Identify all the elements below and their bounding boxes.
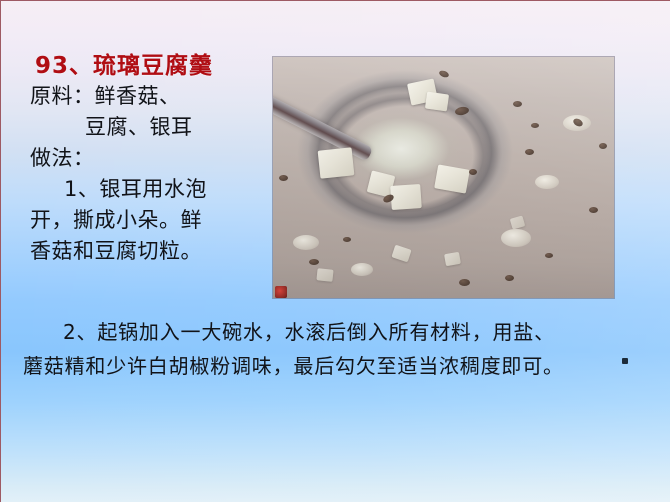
tofu-cube	[316, 268, 333, 282]
mushroom-speck	[545, 253, 553, 258]
mushroom-speck	[279, 175, 288, 181]
mushroom-speck	[343, 237, 351, 242]
method-step1-line-1: 1、银耳用水泡	[1, 174, 263, 205]
recipe-text-column: 93、琉璃豆腐羹 原料：鲜香菇、 豆腐、银耳 做法： 1、银耳用水泡 开，撕成小…	[1, 51, 263, 267]
broth-chunk	[293, 235, 319, 250]
tofu-cube	[390, 184, 422, 210]
slide-canvas: 93、琉璃豆腐羹 原料：鲜香菇、 豆腐、银耳 做法： 1、银耳用水泡 开，撕成小…	[0, 0, 670, 502]
mushroom-speck	[531, 123, 539, 128]
recipe-title: 93、琉璃豆腐羹	[1, 51, 263, 81]
ingredients-line-2: 豆腐、银耳	[1, 112, 263, 143]
mushroom-speck	[525, 149, 534, 155]
mushroom-speck	[599, 143, 607, 149]
tofu-cube	[510, 215, 526, 229]
mushroom-speck	[454, 106, 469, 116]
tofu-cube	[318, 147, 355, 178]
mushroom-speck	[513, 101, 522, 107]
broth-chunk	[351, 263, 373, 276]
method-step2-line-2: 蘑菇精和少许白胡椒粉调味，最后勾欠至适当浓稠度即可。	[1, 349, 670, 383]
tofu-cube	[425, 92, 449, 112]
broth-chunk	[535, 175, 559, 189]
mushroom-speck	[309, 259, 319, 265]
method-step2-paragraph: 2、起锅加入一大碗水，水滚后倒入所有材料，用盐、 蘑菇精和少许白胡椒粉调味，最后…	[1, 315, 670, 383]
dish-photo-frame	[273, 57, 614, 298]
method-label: 做法：	[1, 143, 263, 174]
mushroom-speck	[505, 275, 514, 281]
broth-chunk	[501, 229, 531, 247]
tofu-cube	[434, 164, 470, 193]
stray-marker-dot	[622, 358, 628, 364]
method-step1-line-3: 香菇和豆腐切粒。	[1, 236, 263, 267]
mushroom-speck	[459, 279, 470, 286]
ingredients-line-1: 原料：鲜香菇、	[1, 81, 263, 112]
tofu-cube	[444, 252, 461, 266]
mushroom-speck	[438, 69, 449, 78]
photo-corner-artifact	[275, 286, 287, 298]
method-step1-line-2: 开，撕成小朵。鲜	[1, 205, 263, 236]
dish-photo	[273, 57, 614, 298]
mushroom-speck	[589, 207, 598, 213]
tofu-cube	[391, 245, 411, 263]
mushroom-speck	[469, 169, 477, 175]
method-step2-line-1: 2、起锅加入一大碗水，水滚后倒入所有材料，用盐、	[1, 315, 670, 349]
